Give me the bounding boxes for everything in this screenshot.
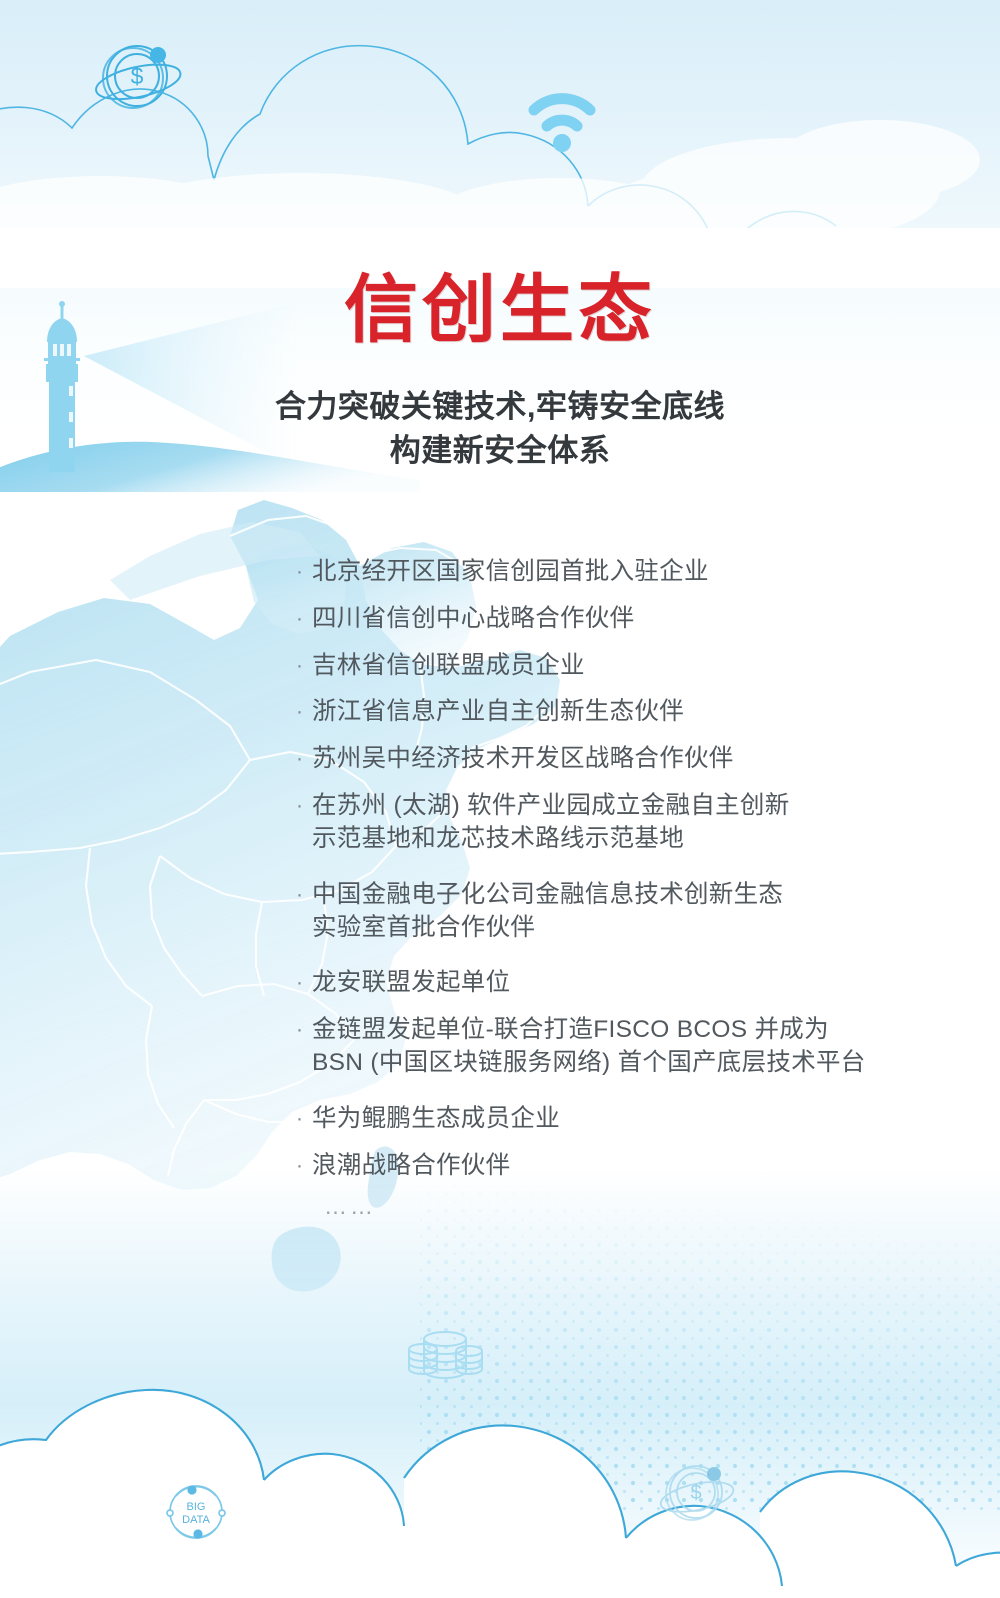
bullet-marker-icon: ·: [296, 879, 312, 911]
list-item: ·北京经开区国家信创园首批入驻企业: [296, 556, 956, 589]
list-item: ·在苏州 (太湖) 软件产业园成立金融自主创新示范基地和龙芯技术路线示范基地: [296, 790, 956, 856]
bullet-marker-icon: ·: [296, 650, 312, 682]
list-item-line: 浪潮战略合作伙伴: [312, 1150, 956, 1183]
list-item-label: 在苏州 (太湖) 软件产业园成立金融自主创新示范基地和龙芯技术路线示范基地: [312, 790, 956, 856]
list-item-line: 吉林省信创联盟成员企业: [312, 650, 956, 683]
list-item-label: 吉林省信创联盟成员企业: [312, 650, 956, 683]
list-item-line: 金链盟发起单位-联合打造FISCO BCOS 并成为: [312, 1014, 956, 1047]
list-item-line: 中国金融电子化公司金融信息技术创新生态: [312, 879, 956, 912]
list-item-label: 浙江省信息产业自主创新生态伙伴: [312, 696, 956, 729]
bullet-marker-icon: ·: [296, 1014, 312, 1046]
list-item: ·金链盟发起单位-联合打造FISCO BCOS 并成为BSN (中国区块链服务网…: [296, 1014, 956, 1080]
list-item: ·四川省信创中心战略合作伙伴: [296, 603, 956, 636]
list-item: ·浙江省信息产业自主创新生态伙伴: [296, 696, 956, 729]
dollar-glyph: $: [690, 1482, 701, 1504]
list-item-line: BSN (中国区块链服务网络) 首个国产底层技术平台: [312, 1047, 956, 1080]
list-item: ·吉林省信创联盟成员企业: [296, 650, 956, 683]
list-item-label: 北京经开区国家信创园首批入驻企业: [312, 556, 956, 589]
bullet-marker-icon: ·: [296, 967, 312, 999]
ellipsis-text: ……: [324, 1191, 956, 1222]
list-item-label: 龙安联盟发起单位: [312, 967, 956, 1000]
list-item: ·苏州吴中经济技术开发区战略合作伙伴: [296, 743, 956, 776]
bullet-marker-icon: ·: [296, 696, 312, 728]
list-item-line: 实验室首批合作伙伴: [312, 912, 956, 945]
list-item-line: 示范基地和龙芯技术路线示范基地: [312, 823, 956, 856]
list-item-label: 浪潮战略合作伙伴: [312, 1150, 956, 1183]
list-item-line: 华为鲲鹏生态成员企业: [312, 1103, 956, 1136]
page-subtitle: 合力突破关键技术,牢铸安全底线 构建新安全体系: [0, 385, 1000, 473]
list-item-label: 苏州吴中经济技术开发区战略合作伙伴: [312, 743, 956, 776]
list-item-label: 华为鲲鹏生态成员企业: [312, 1103, 956, 1136]
list-item-line: 苏州吴中经济技术开发区战略合作伙伴: [312, 743, 956, 776]
list-item-line: 北京经开区国家信创园首批入驻企业: [312, 556, 956, 589]
bullet-marker-icon: ·: [296, 1103, 312, 1135]
bullet-marker-icon: ·: [296, 790, 312, 822]
bullet-marker-icon: ·: [296, 603, 312, 635]
list-item-label: 四川省信创中心战略合作伙伴: [312, 603, 956, 636]
list-item-label: 中国金融电子化公司金融信息技术创新生态实验室首批合作伙伴: [312, 879, 956, 945]
list-item-line: 在苏州 (太湖) 软件产业园成立金融自主创新: [312, 790, 956, 823]
list-item: ·华为鲲鹏生态成员企业: [296, 1103, 956, 1136]
list-item-line: 龙安联盟发起单位: [312, 967, 956, 1000]
list-item-label: 金链盟发起单位-联合打造FISCO BCOS 并成为BSN (中国区块链服务网络…: [312, 1014, 956, 1080]
list-item-line: 浙江省信息产业自主创新生态伙伴: [312, 696, 956, 729]
credentials-list: ·北京经开区国家信创园首批入驻企业·四川省信创中心战略合作伙伴·吉林省信创联盟成…: [296, 556, 956, 1221]
poster-canvas: $: [0, 0, 1000, 1598]
page-title: 信创生态: [0, 273, 1000, 347]
subtitle-line-2: 构建新安全体系: [0, 429, 1000, 473]
bullet-marker-icon: ·: [296, 1150, 312, 1182]
bullet-marker-icon: ·: [296, 556, 312, 588]
bullet-marker-icon: ·: [296, 743, 312, 775]
list-item: ·龙安联盟发起单位: [296, 967, 956, 1000]
subtitle-line-1: 合力突破关键技术,牢铸安全底线: [0, 385, 1000, 429]
list-item-line: 四川省信创中心战略合作伙伴: [312, 603, 956, 636]
list-item: ·浪潮战略合作伙伴: [296, 1150, 956, 1183]
list-item: ·中国金融电子化公司金融信息技术创新生态实验室首批合作伙伴: [296, 879, 956, 945]
